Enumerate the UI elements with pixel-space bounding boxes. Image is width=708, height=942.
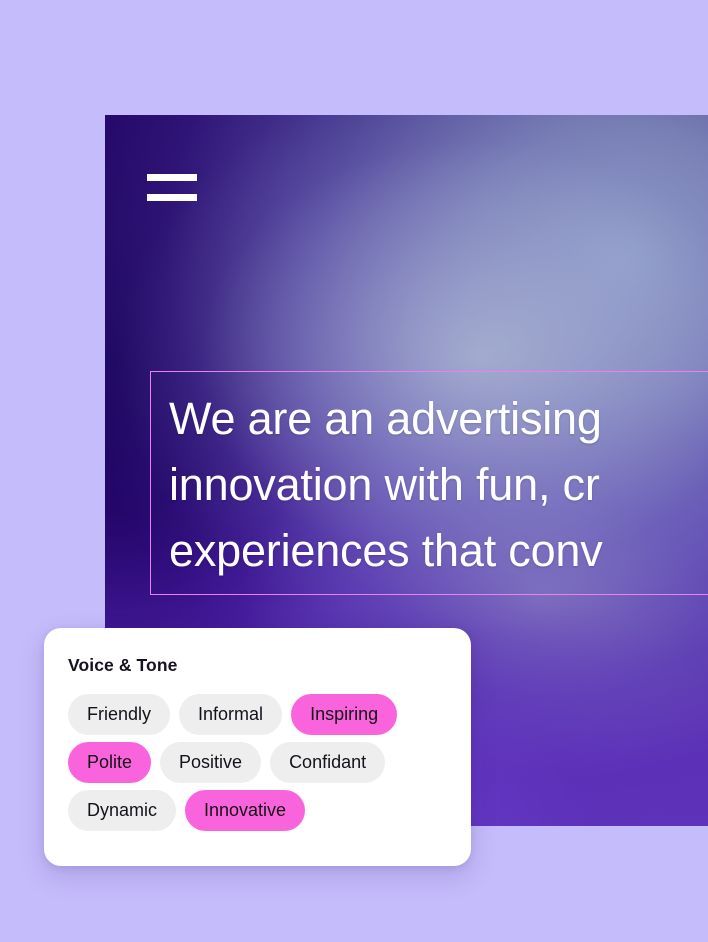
hamburger-bar-bottom xyxy=(147,194,197,201)
tone-chip-dynamic[interactable]: Dynamic xyxy=(68,790,176,831)
tone-chip-informal[interactable]: Informal xyxy=(179,694,282,735)
tone-chip-row: FriendlyInformalInspiring xyxy=(68,694,447,735)
hamburger-bar-top xyxy=(147,174,197,181)
tone-chip-group: FriendlyInformalInspiringPolitePositiveC… xyxy=(68,694,447,831)
tone-chip-innovative[interactable]: Innovative xyxy=(185,790,305,831)
headline-outline-box: We are an advertising innovation with fu… xyxy=(150,371,708,595)
tone-chip-confidant[interactable]: Confidant xyxy=(270,742,385,783)
tone-chip-friendly[interactable]: Friendly xyxy=(68,694,170,735)
hero-headline: We are an advertising innovation with fu… xyxy=(169,386,708,584)
tone-chip-row: DynamicInnovative xyxy=(68,790,447,831)
voice-and-tone-title: Voice & Tone xyxy=(68,655,447,676)
hamburger-menu-icon[interactable] xyxy=(147,167,197,199)
voice-and-tone-card: Voice & Tone FriendlyInformalInspiringPo… xyxy=(44,628,471,866)
tone-chip-inspiring[interactable]: Inspiring xyxy=(291,694,397,735)
tone-chip-row: PolitePositiveConfidant xyxy=(68,742,447,783)
tone-chip-positive[interactable]: Positive xyxy=(160,742,261,783)
tone-chip-polite[interactable]: Polite xyxy=(68,742,151,783)
